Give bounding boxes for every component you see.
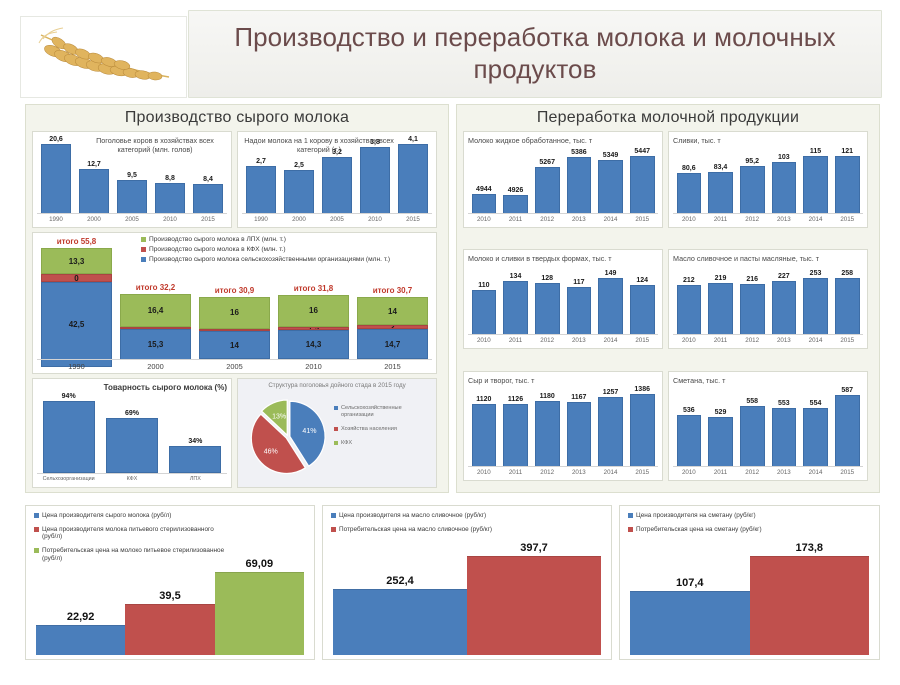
- chart-plot-sour-cream: 536529558553554587 201020112012201320142…: [669, 372, 867, 480]
- bar[interactable]: [750, 556, 870, 655]
- bar[interactable]: [43, 401, 95, 473]
- bar[interactable]: [772, 408, 797, 467]
- bar[interactable]: [467, 556, 601, 655]
- bar-value-label: 128: [541, 275, 553, 282]
- bar[interactable]: [503, 281, 528, 335]
- bar-value-label: 1257: [603, 389, 619, 396]
- bar-item[interactable]: 5349: [596, 148, 625, 214]
- bar[interactable]: [193, 184, 223, 214]
- chart-card-yield[interactable]: Надои молока на 1 корову в хозяйствах вс…: [237, 131, 437, 228]
- legend-item[interactable]: КФХ: [334, 440, 413, 447]
- bar-item[interactable]: 553: [770, 386, 799, 467]
- legend-item[interactable]: Хозяйства населения: [334, 426, 413, 433]
- legend-swatch: [141, 237, 146, 242]
- chart-plot-solid-milk: 110134128117149124 201020112012201320142…: [464, 250, 662, 348]
- bar[interactable]: [772, 162, 797, 214]
- axis-tick-label: 2015: [189, 214, 227, 227]
- bar-value-label: 20,6: [49, 136, 63, 143]
- bar-value-label: 8,8: [165, 175, 175, 182]
- chart-plot-marketability: 94%69%34% СельхозорганизацииКФХЛПХ: [33, 379, 231, 487]
- bar-item[interactable]: 5267: [533, 148, 562, 214]
- bar-item[interactable]: 253: [801, 270, 830, 335]
- bar[interactable]: [503, 404, 528, 467]
- stacked-column[interactable]: 161,514,3: [278, 295, 349, 359]
- bar-value-label: 253: [810, 270, 822, 277]
- panel-dairy-processing: Переработка молочной продукции Молоко жи…: [456, 104, 880, 493]
- legend-label: Потребительская цена на сметану (руб/кг): [636, 526, 821, 534]
- legend-label: Сельскохозяйственные организации: [341, 405, 413, 419]
- axis-tick-label: 2015: [831, 467, 863, 480]
- stacked-column[interactable]: 14214,7: [357, 297, 428, 359]
- bar-value-label: 12,7: [87, 161, 101, 168]
- bar-item[interactable]: 1257: [596, 386, 625, 467]
- stack-segment[interactable]: 14,7: [357, 329, 428, 359]
- bar-item[interactable]: 124: [628, 270, 657, 335]
- stacked-bar-item[interactable]: итого 55,813,3042,5: [41, 237, 112, 359]
- legend-label: Производство сырого молока сельскохозяйс…: [149, 256, 390, 264]
- axis-tick-label: 2010: [468, 467, 500, 480]
- axis-tick-label: 2015: [626, 214, 658, 227]
- bar-value-label: 5386: [571, 149, 587, 156]
- legend-swatch: [141, 247, 146, 252]
- bar-item[interactable]: 115: [801, 148, 830, 214]
- bar[interactable]: [398, 144, 428, 214]
- legend-label: Цена производителя на сметану (руб/кг): [636, 512, 821, 520]
- bar-value-label: 5267: [539, 159, 555, 166]
- bar-value-label: 9,5: [127, 172, 137, 179]
- stack-segment[interactable]: 15,3: [120, 329, 191, 360]
- stack-total-label: итого 31,8: [294, 284, 334, 293]
- axis-tick-label: 2010: [468, 214, 500, 227]
- bar-item[interactable]: 4926: [501, 148, 530, 214]
- bar-value-label: 1120: [476, 396, 491, 403]
- bar-value-label: 5447: [634, 148, 650, 155]
- legend-item[interactable]: Производство сырого молока в КФХ (млн. т…: [141, 246, 433, 254]
- axis-tick-label: 2013: [563, 467, 595, 480]
- bar-item[interactable]: 173,8: [750, 542, 870, 655]
- legend-swatch: [334, 441, 338, 445]
- stack-segment[interactable]: 42,5: [41, 282, 112, 367]
- bar-item[interactable]: 39,5: [125, 558, 214, 655]
- bar[interactable]: [117, 180, 147, 214]
- axis-tick-label: 2013: [768, 335, 800, 348]
- legend-label: КФХ: [341, 440, 413, 447]
- legend-label: Производство сырого молока в КФХ (млн. т…: [149, 246, 286, 254]
- bar[interactable]: [835, 395, 860, 467]
- bar-item[interactable]: 95,2: [738, 148, 767, 214]
- bar-value-label: 121: [841, 148, 853, 155]
- bar-value-label: 69,09: [246, 558, 274, 570]
- bar-item[interactable]: 558: [738, 386, 767, 467]
- bar-item[interactable]: 5386: [565, 148, 594, 214]
- legend-swatch: [34, 548, 39, 553]
- legend-item[interactable]: Производство сырого молока сельскохозяйс…: [141, 256, 433, 264]
- chart-legend-price-sour-cream: Цена производителя на сметану (руб/кг)По…: [628, 512, 821, 539]
- bar[interactable]: [630, 285, 655, 335]
- chart-card-cream[interactable]: Сливки, тыс. т 80,683,495,2103115121 201…: [668, 131, 868, 228]
- legend-swatch: [34, 527, 39, 532]
- axis-tick-label: 2014: [595, 335, 627, 348]
- bar-item[interactable]: 5447: [628, 148, 657, 214]
- title-banner: Производство и переработка молока и моло…: [188, 10, 882, 98]
- legend-swatch: [34, 513, 39, 518]
- bar[interactable]: [677, 415, 702, 467]
- stack-segment[interactable]: 14,3: [278, 330, 349, 359]
- bar[interactable]: [740, 284, 765, 335]
- bar-value-label: 553: [778, 400, 790, 407]
- bar[interactable]: [677, 173, 702, 214]
- legend-swatch: [331, 513, 336, 518]
- bar-item[interactable]: 80,6: [675, 148, 704, 214]
- bar-value-label: 124: [636, 277, 648, 284]
- bar-value-label: 2,5: [294, 162, 304, 169]
- bar[interactable]: [535, 167, 560, 214]
- axis-tick-label: 2012: [531, 467, 563, 480]
- bar-item[interactable]: 107,4: [630, 542, 750, 655]
- legend-swatch: [141, 257, 146, 262]
- bar-item[interactable]: 397,7: [467, 542, 601, 655]
- bar-item[interactable]: 219: [706, 270, 735, 335]
- bar-item[interactable]: 536: [675, 386, 704, 467]
- bar[interactable]: [36, 625, 125, 655]
- bar-value-label: 39,5: [159, 590, 180, 602]
- axis-tick-label: 2010: [673, 467, 705, 480]
- stack-segment[interactable]: 14: [357, 297, 428, 325]
- bar-value-label: 117: [573, 279, 584, 286]
- axis-tick-label: 2010: [673, 214, 705, 227]
- stack-total-label: итого 32,2: [136, 283, 176, 292]
- stack-total-label: итого 30,7: [373, 286, 413, 295]
- bar[interactable]: [503, 195, 528, 214]
- bar-item[interactable]: 22,92: [36, 558, 125, 655]
- bar[interactable]: [630, 394, 655, 467]
- bar-value-label: 529: [715, 409, 727, 416]
- bar-item[interactable]: 1386: [628, 386, 657, 467]
- bar-item[interactable]: 94%: [39, 393, 99, 473]
- bar[interactable]: [598, 278, 623, 335]
- pie-slice-label: 41%: [302, 428, 316, 435]
- stacked-column[interactable]: 13,3042,5: [41, 248, 112, 359]
- bar-value-label: 149: [605, 270, 617, 277]
- chart-legend-herd-structure: Сельскохозяйственные организацииХозяйств…: [334, 405, 413, 454]
- axis-tick-label: 2011: [705, 214, 737, 227]
- chart-card-price-milk[interactable]: Цена производителя сырого молока (руб/л)…: [25, 505, 315, 660]
- axis-tick-label: 2011: [500, 214, 532, 227]
- legend-label: Цена производителя молока питьевого стер…: [42, 526, 227, 541]
- bar-item[interactable]: 252,4: [333, 542, 467, 655]
- stacked-column[interactable]: 16,40,515,3: [120, 294, 191, 359]
- legend-item[interactable]: Потребительская цена на масло сливочное …: [331, 526, 524, 534]
- chart-card-raw-milk-structure[interactable]: Производство сырого молока в ЛПХ (млн. т…: [32, 232, 437, 374]
- bar[interactable]: [360, 147, 390, 214]
- bar-value-label: 110: [478, 282, 489, 289]
- bar[interactable]: [322, 157, 352, 214]
- legend-label: Производство сырого молока в ЛПХ (млн. т…: [149, 236, 286, 244]
- bar-item[interactable]: 587: [833, 386, 862, 467]
- logo-container: [20, 16, 187, 98]
- stack-segment[interactable]: 0: [41, 274, 112, 282]
- bar-item[interactable]: 212: [675, 270, 704, 335]
- bar[interactable]: [598, 397, 623, 467]
- axis-tick-label: 2015: [353, 360, 432, 373]
- chart-card-solid-milk[interactable]: Молоко и сливки в твердых формах, тыс. т…: [463, 249, 663, 349]
- wheat-ear-icon: [29, 25, 179, 87]
- panel-raw-milk-production: Производство сырого молока Поголовье кор…: [25, 104, 449, 493]
- bar-item[interactable]: 69,09: [215, 558, 304, 655]
- stack-segment[interactable]: 16: [199, 297, 270, 329]
- panel-left-title: Производство сырого молока: [26, 105, 448, 130]
- legend-item[interactable]: Цена производителя на масло сливочное (р…: [331, 512, 524, 520]
- axis-tick-label: 2010: [468, 335, 500, 348]
- bar[interactable]: [803, 278, 828, 335]
- chart-card-cows[interactable]: Поголовье коров в хозяйствах всех катего…: [32, 131, 232, 228]
- legend-item[interactable]: Сельскохозяйственные организации: [334, 405, 413, 419]
- chart-card-herd-structure[interactable]: Структура поголовья дойного стада в 2015…: [237, 378, 437, 488]
- axis-tick-label: 2014: [800, 467, 832, 480]
- bar[interactable]: [246, 166, 276, 214]
- legend-label: Цена производителя на масло сливочное (р…: [339, 512, 524, 520]
- axis-tick-label: ЛПХ: [164, 474, 227, 487]
- bar[interactable]: [677, 285, 702, 335]
- bar-item[interactable]: 134: [501, 270, 530, 335]
- chart-card-butter[interactable]: Масло сливочное и пасты масляные, тыс. т…: [668, 249, 868, 349]
- bar-item[interactable]: 529: [706, 386, 735, 467]
- axis-tick-label: 2015: [394, 214, 432, 227]
- chart-legend-raw-milk-structure: Производство сырого молока в ЛПХ (млн. т…: [141, 236, 433, 266]
- bar[interactable]: [708, 417, 733, 467]
- axis-tick-label: 2014: [595, 467, 627, 480]
- panel-right-title: Переработка молочной продукции: [457, 105, 879, 130]
- stack-segment[interactable]: 14: [199, 331, 270, 359]
- bar-item[interactable]: 117: [565, 270, 594, 335]
- chart-card-sour-cream[interactable]: Сметана, тыс. т 536529558553554587 20102…: [668, 371, 868, 481]
- bar-value-label: 1126: [508, 396, 523, 403]
- chart-plot-cheese: 112011261180116712571386 201020112012201…: [464, 372, 662, 480]
- chart-card-liquid-milk[interactable]: Молоко жидкое обработанное, тыс. т 49444…: [463, 131, 663, 228]
- bar-item[interactable]: 110: [470, 270, 499, 335]
- bar-value-label: 69%: [125, 410, 139, 417]
- bar[interactable]: [472, 404, 497, 467]
- axis-tick-label: 2015: [831, 214, 863, 227]
- bar-item[interactable]: 20,6: [39, 136, 74, 214]
- bar[interactable]: [79, 169, 109, 214]
- bar-value-label: 258: [841, 270, 853, 277]
- chart-card-cheese[interactable]: Сыр и творог, тыс. т 1120112611801167125…: [463, 371, 663, 481]
- pie-slice-label: 46%: [264, 448, 278, 455]
- axis-tick-label: 2012: [736, 467, 768, 480]
- axis-tick-label: Сельхозорганизации: [37, 474, 100, 487]
- bar-item[interactable]: 258: [833, 270, 862, 335]
- stack-segment[interactable]: 16: [278, 295, 349, 327]
- bar-value-label: 1167: [571, 394, 586, 401]
- bar[interactable]: [598, 160, 623, 214]
- chart-title-liquid-milk: Молоко жидкое обработанное, тыс. т: [468, 136, 658, 145]
- axis-tick-label: 1990: [242, 214, 280, 227]
- axis-tick-label: 1990: [37, 360, 116, 373]
- bar[interactable]: [535, 401, 560, 467]
- legend-swatch: [331, 527, 336, 532]
- axis-tick-label: 2000: [75, 214, 113, 227]
- bar-item[interactable]: 34%: [165, 393, 225, 473]
- pie-slice-label: 13%: [272, 414, 286, 421]
- legend-item[interactable]: Производство сырого молока в ЛПХ (млн. т…: [141, 236, 433, 244]
- bar[interactable]: [708, 172, 733, 214]
- bar[interactable]: [835, 278, 860, 335]
- bar[interactable]: [803, 156, 828, 214]
- bar-value-label: 22,92: [67, 611, 95, 623]
- bar[interactable]: [803, 408, 828, 467]
- bar-item[interactable]: 216: [738, 270, 767, 335]
- axis-tick-label: 2011: [500, 335, 532, 348]
- legend-label: Хозяйства населения: [341, 426, 413, 433]
- bar-value-label: 397,7: [520, 542, 548, 554]
- axis-tick-label: 2005: [318, 214, 356, 227]
- bar-value-label: 4,1: [408, 136, 418, 143]
- bar-value-label: 4944: [476, 186, 492, 193]
- slide-root: Производство и переработка молока и моло…: [0, 0, 900, 685]
- bar-value-label: 558: [746, 398, 758, 405]
- bar[interactable]: [835, 156, 860, 214]
- bar[interactable]: [740, 166, 765, 214]
- chart-plot-butter: 212219216227253258 201020112012201320142…: [669, 250, 867, 348]
- bar-value-label: 83,4: [714, 164, 728, 171]
- bar-item[interactable]: 1180: [533, 386, 562, 467]
- bar[interactable]: [155, 183, 185, 214]
- axis-tick-label: 2010: [673, 335, 705, 348]
- bar-value-label: 2,7: [256, 158, 266, 165]
- axis-tick-label: 2012: [531, 335, 563, 348]
- bar[interactable]: [535, 283, 560, 335]
- bar-value-label: 107,4: [676, 577, 704, 589]
- axis-tick-label: 2012: [531, 214, 563, 227]
- axis-tick-label: 2013: [563, 335, 595, 348]
- bar-item[interactable]: 69%: [102, 393, 162, 473]
- chart-legend-price-butter: Цена производителя на масло сливочное (р…: [331, 512, 524, 539]
- bar-item[interactable]: 128: [533, 270, 562, 335]
- bar[interactable]: [284, 170, 314, 214]
- stack-segment[interactable]: 16,4: [120, 294, 191, 327]
- axis-tick-label: 2005: [113, 214, 151, 227]
- pie-chart-herd-structure: 41%46%13%: [244, 393, 332, 481]
- bar-item[interactable]: 227: [770, 270, 799, 335]
- bar[interactable]: [630, 156, 655, 214]
- bar[interactable]: [567, 157, 592, 214]
- chart-title-cheese: Сыр и творог, тыс. т: [468, 376, 628, 385]
- chart-card-price-butter[interactable]: Цена производителя на масло сливочное (р…: [322, 505, 612, 660]
- bar-item[interactable]: 554: [801, 386, 830, 467]
- bar-value-label: 80,6: [682, 165, 696, 172]
- axis-tick-label: 2011: [705, 467, 737, 480]
- bar-value-label: 587: [841, 387, 853, 394]
- legend-label: Потребительская цена на масло сливочное …: [339, 526, 524, 534]
- chart-title-cream: Сливки, тыс. т: [673, 136, 793, 145]
- legend-label: Цена производителя сырого молока (руб/л): [42, 512, 227, 520]
- chart-card-price-sour-cream[interactable]: Цена производителя на сметану (руб/кг)По…: [619, 505, 880, 660]
- axis-tick-label: 2013: [563, 214, 595, 227]
- axis-tick-label: 2010: [151, 214, 189, 227]
- bar[interactable]: [708, 283, 733, 335]
- chart-plot-liquid-milk: 494449265267538653495447 201020112012201…: [464, 132, 662, 227]
- axis-tick-label: 2015: [831, 335, 863, 348]
- stack-segment[interactable]: 13,3: [41, 248, 112, 274]
- axis-tick-label: 2013: [768, 467, 800, 480]
- bar-item[interactable]: 4944: [470, 148, 499, 214]
- bar-item[interactable]: 1126: [501, 386, 530, 467]
- axis-tick-label: 2014: [800, 214, 832, 227]
- bar-item[interactable]: 1120: [470, 386, 499, 467]
- bar-item[interactable]: 83,4: [706, 148, 735, 214]
- legend-item[interactable]: Цена производителя на сметану (руб/кг): [628, 512, 821, 520]
- legend-swatch: [334, 427, 338, 431]
- stack-total-label: итого 30,9: [215, 286, 255, 295]
- bar[interactable]: [125, 604, 214, 655]
- chart-plot-cream: 80,683,495,2103115121 201020112012201320…: [669, 132, 867, 227]
- stack-total-label: итого 55,8: [57, 237, 97, 246]
- bar-value-label: 216: [746, 276, 758, 283]
- axis-tick-label: 2012: [736, 214, 768, 227]
- bar-value-label: 1180: [540, 393, 555, 400]
- chart-title-solid-milk: Молоко и сливки в твердых формах, тыс. т: [468, 254, 628, 263]
- bar[interactable]: [772, 281, 797, 335]
- legend-item[interactable]: Потребительская цена на молоко питьевое …: [34, 547, 227, 562]
- axis-tick-label: 2015: [626, 467, 658, 480]
- bar[interactable]: [215, 572, 304, 655]
- axis-tick-label: 2010: [356, 214, 394, 227]
- bar-item[interactable]: 121: [833, 148, 862, 214]
- bar[interactable]: [567, 402, 592, 467]
- legend-swatch: [628, 513, 633, 518]
- axis-tick-label: 2015: [626, 335, 658, 348]
- legend-label: Потребительская цена на молоко питьевое …: [42, 547, 227, 562]
- axis-tick-label: 2011: [500, 467, 532, 480]
- axis-tick-label: 2014: [800, 335, 832, 348]
- bar[interactable]: [41, 144, 71, 214]
- bar-item[interactable]: 103: [770, 148, 799, 214]
- chart-card-marketability[interactable]: Товарность сырого молока (%) 94%69%34% С…: [32, 378, 232, 488]
- bar[interactable]: [630, 591, 750, 655]
- chart-title-yield: Надои молока на 1 корову в хозяйствах вс…: [244, 136, 394, 154]
- bar[interactable]: [472, 290, 497, 335]
- bar-item[interactable]: 149: [596, 270, 625, 335]
- bar[interactable]: [169, 446, 221, 473]
- axis-tick-label: КФХ: [100, 474, 163, 487]
- axis-tick-label: 1990: [37, 214, 75, 227]
- legend-swatch: [334, 406, 338, 410]
- bar[interactable]: [740, 406, 765, 467]
- bar[interactable]: [333, 589, 467, 655]
- bar-item[interactable]: 1167: [565, 386, 594, 467]
- bar[interactable]: [567, 287, 592, 335]
- chart-title-cows: Поголовье коров в хозяйствах всех катего…: [81, 136, 229, 154]
- axis-tick-label: 2014: [595, 214, 627, 227]
- bar[interactable]: [106, 418, 158, 473]
- legend-item[interactable]: Цена производителя молока питьевого стер…: [34, 526, 227, 541]
- legend-item[interactable]: Цена производителя сырого молока (руб/л): [34, 512, 227, 520]
- axis-tick-label: 2000: [116, 360, 195, 373]
- chart-title-butter: Масло сливочное и пасты масляные, тыс. т: [673, 254, 823, 263]
- page-title: Производство и переработка молока и моло…: [189, 22, 881, 85]
- legend-swatch: [628, 527, 633, 532]
- legend-item[interactable]: Потребительская цена на сметану (руб/кг): [628, 526, 821, 534]
- bar-item[interactable]: 4,1: [396, 136, 431, 214]
- stacked-column[interactable]: 160,914: [199, 297, 270, 359]
- bar-value-label: 8,4: [203, 176, 213, 183]
- bar-value-label: 1386: [634, 386, 650, 393]
- slide-header: Производство и переработка молока и моло…: [20, 10, 880, 92]
- bar[interactable]: [472, 194, 497, 214]
- axis-tick-label: 2010: [274, 360, 353, 373]
- bar-value-label: 134: [510, 273, 522, 280]
